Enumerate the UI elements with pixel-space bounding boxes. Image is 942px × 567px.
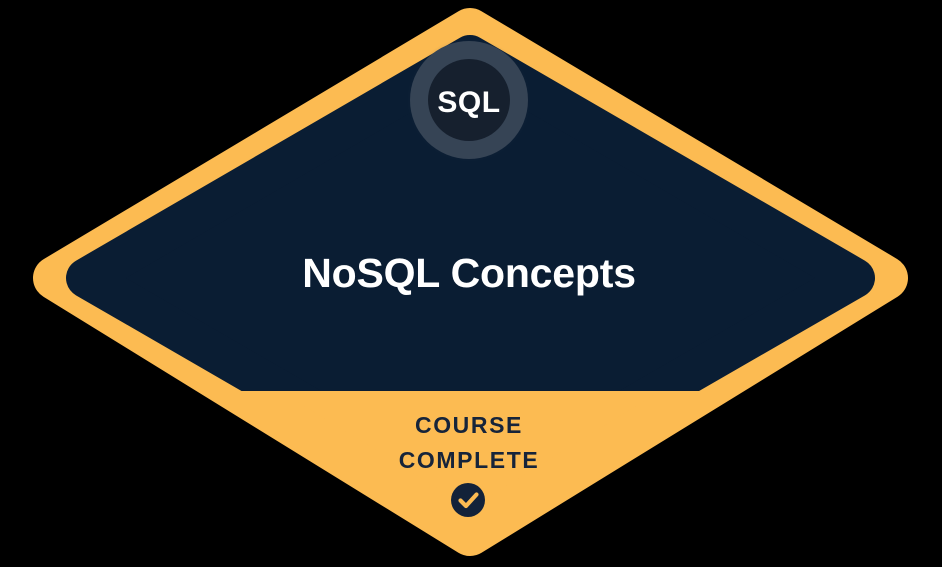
badge-stage: SQL NoSQL Concepts COURSE COMPLETE: [0, 0, 942, 567]
status-line-primary: COURSE: [415, 412, 523, 438]
skill-tag-label: SQL: [437, 86, 500, 119]
skill-ring-badge[interactable]: SQL: [407, 38, 531, 162]
check-icon-circle: [451, 483, 485, 517]
course-completion-badge[interactable]: SQL NoSQL Concepts COURSE COMPLETE: [0, 0, 942, 567]
check-icon: [451, 483, 485, 517]
status-line-secondary: COMPLETE: [399, 447, 540, 473]
course-title: NoSQL Concepts: [302, 250, 636, 296]
